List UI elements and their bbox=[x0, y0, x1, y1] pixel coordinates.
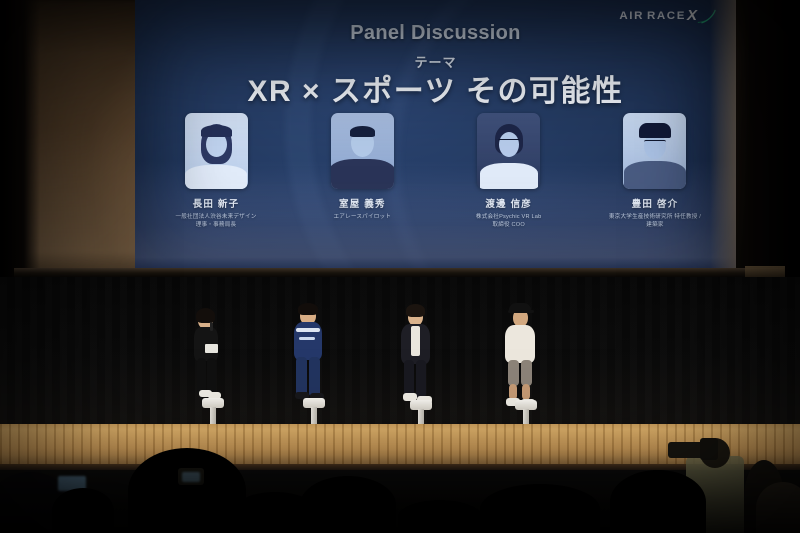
projection-screen: AIR RACE X Panel Discussion テーマ XR × スポー… bbox=[135, 0, 736, 268]
wall-left-shadow bbox=[0, 0, 40, 300]
screen-vignette bbox=[135, 0, 736, 268]
screen-frame-bar bbox=[14, 268, 784, 277]
foreground-darkening bbox=[0, 455, 800, 533]
conference-photo: AIR RACE X Panel Discussion テーマ XR × スポー… bbox=[0, 0, 800, 533]
stage-curtain bbox=[0, 277, 800, 429]
